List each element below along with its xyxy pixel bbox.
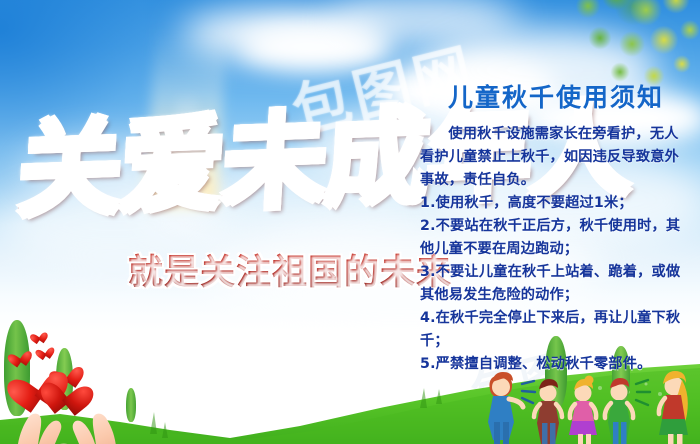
child-figure <box>605 378 650 444</box>
notice-item: 5.严禁擅自调整、松动秋千零部件。 <box>420 353 692 376</box>
heart-icon <box>15 351 36 370</box>
notice-item: 3.不要让儿童在秋千上站着、跪着，或做其他易发生危险的动作； <box>420 261 692 307</box>
notice-panel: 儿童秋千使用须知 使用秋千设施需家长在旁看护，无人看护儿童禁止上秋千，如因违反导… <box>420 78 692 376</box>
cupped-hands-icon <box>2 392 152 444</box>
child-figure <box>488 372 535 444</box>
notice-title: 儿童秋千使用须知 <box>420 78 692 114</box>
page-title: 关爱未成年人 <box>14 105 422 249</box>
page-subtitle: 就是关注祖国的未来 <box>128 244 452 295</box>
notice-item: 1.使用秋千，高度不要超过1米； <box>420 192 692 215</box>
notice-item: 4.在秋千完全停止下来后，再让儿童下秋千； <box>420 307 692 353</box>
heart-icon <box>35 332 50 346</box>
child-figure <box>534 379 562 444</box>
notice-body: 使用秋千设施需家长在旁看护，无人看护儿童禁止上秋千，如因违反导致意外事故，责任自… <box>420 123 692 376</box>
notice-intro: 使用秋千设施需家长在旁看护，无人看护儿童禁止上秋千，如因违反导致意外事故，责任自… <box>420 123 692 192</box>
notice-item: 2.不要站在秋千正后方，秋千使用时，其他儿童不要在周边跑动； <box>420 215 692 261</box>
poster-canvas: 包图网 包图 <box>0 0 700 444</box>
children-group-icon <box>482 368 700 444</box>
child-figure <box>569 376 597 444</box>
child-figure <box>659 371 688 444</box>
heart-icon <box>41 347 57 362</box>
